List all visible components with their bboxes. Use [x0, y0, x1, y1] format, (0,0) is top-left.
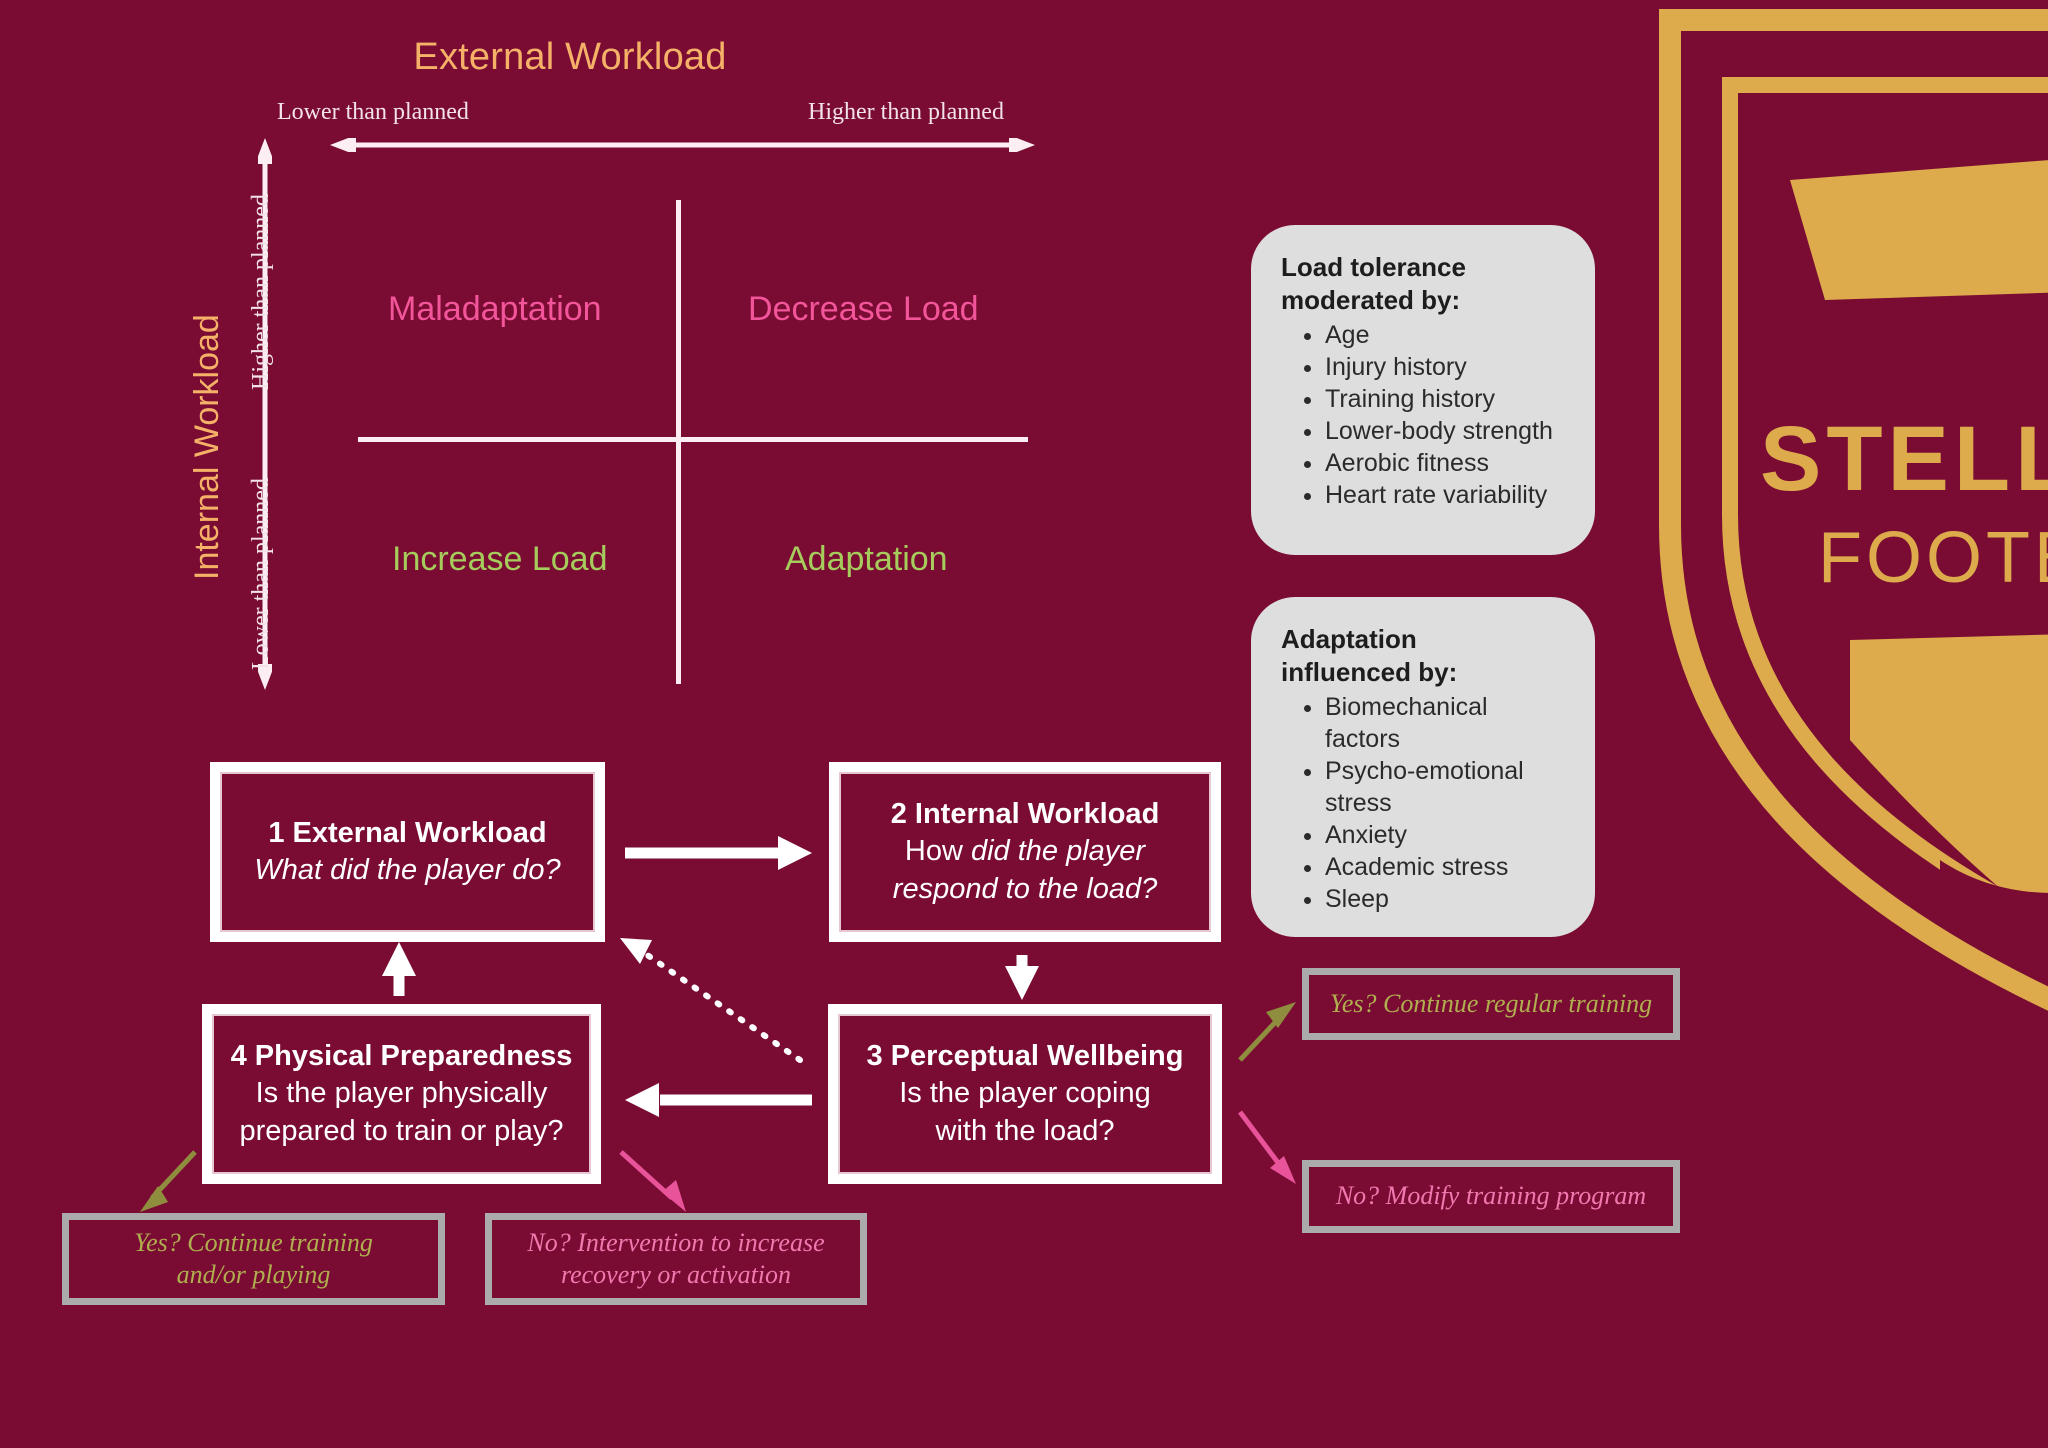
crest-swoosh [1940, 700, 2048, 959]
list-item: Aerobic fitness [1325, 447, 1565, 479]
flow-box-2-body-prefix: How [905, 835, 971, 867]
flow-box-3-heading: 3 Perceptual Wellbeing [867, 1038, 1184, 1075]
list-item: Lower-body strength [1325, 415, 1565, 447]
load-tolerance-title-line1: Load tolerance [1281, 252, 1466, 282]
list-item: Age [1325, 319, 1565, 351]
quadrant-label-decrease-load: Decrease Load [748, 290, 979, 329]
crest-text-line2: FOOTBA [1818, 518, 2048, 598]
outcome-no-intervention[interactable]: No? Intervention to increase recovery or… [485, 1213, 867, 1305]
y-axis-label-lower: Lower than planned [248, 478, 275, 670]
load-tolerance-list: Age Injury history Training history Lowe… [1281, 319, 1565, 512]
outcome-no-modify-program[interactable]: No? Modify training program [1302, 1160, 1680, 1233]
adaptation-title-line1: Adaptation [1281, 624, 1417, 654]
diagram-canvas: STELLEN FOOTBA External Workload Lower t… [0, 0, 2048, 1448]
arrow-box3-to-no-modify-program [1240, 1112, 1296, 1184]
flow-box-2-inner: 2 Internal Workload How did the playerre… [839, 772, 1211, 932]
quadrant-label-maladaptation: Maladaptation [388, 290, 602, 329]
flow-box-3-body-line1: Is the player coping [899, 1075, 1150, 1112]
outcome-yes-continue-training-text: Yes? Continue training and/or playing [134, 1227, 373, 1291]
quadrant-label-increase-load: Increase Load [392, 540, 608, 579]
flow-box-3-inner: 3 Perceptual Wellbeing Is the player cop… [838, 1014, 1212, 1174]
flow-box-1-body: What did the player do? [254, 852, 560, 889]
club-crest-logo: STELLEN FOOTBA [1640, 0, 2048, 1060]
x-axis-double-arrow [330, 138, 1035, 152]
load-tolerance-card: Load tolerance moderated by: Age Injury … [1251, 225, 1595, 555]
list-item: Sleep [1325, 883, 1565, 915]
flow-box-2-body-italic-line2: respond to the load? [893, 873, 1157, 905]
flow-box-4-physical-preparedness[interactable]: 4 Physical Preparedness Is the player ph… [202, 1004, 601, 1184]
flow-box-2-body-italic-line1: did the player [971, 835, 1145, 867]
y-axis-label-higher: Higher than planned [248, 194, 275, 390]
load-tolerance-card-title: Load tolerance moderated by: [1281, 251, 1565, 317]
quadrant-vertical-divider [676, 200, 681, 684]
outcome-yes-regular-training-text: Yes? Continue regular training [1330, 988, 1652, 1020]
arrow-feedback-dotted-to-box1 [620, 938, 800, 1060]
crest-inner-outline [1730, 85, 2048, 942]
crest-bottom-wedge [1850, 625, 2048, 960]
arrow-box4-to-yes-continue-training [140, 1152, 195, 1212]
flow-box-2-body: How did the playerrespond to the load? [893, 833, 1157, 907]
adaptation-influences-list: Biomechanical factors Psycho-emotional s… [1281, 691, 1565, 916]
arrow-box2-to-box3 [1005, 955, 1039, 1000]
flow-box-3-perceptual-wellbeing[interactable]: 3 Perceptual Wellbeing Is the player cop… [828, 1004, 1222, 1184]
crest-text-line1: STELLEN [1760, 408, 2048, 510]
outcome-line2: recovery or activation [561, 1260, 791, 1289]
list-item: Biomechanical factors [1325, 691, 1565, 755]
adaptation-title-line2: influenced by: [1281, 657, 1457, 687]
x-axis-label-higher: Higher than planned [808, 99, 1004, 126]
outcome-line2: and/or playing [177, 1260, 331, 1289]
flow-box-3-body-line2: with the load? [936, 1113, 1115, 1150]
outcome-yes-regular-training[interactable]: Yes? Continue regular training [1302, 968, 1680, 1040]
arrow-box4-to-box1 [382, 942, 416, 996]
flow-box-4-heading: 4 Physical Preparedness [231, 1038, 573, 1075]
arrow-box3-to-yes-regular-training [1240, 1002, 1296, 1060]
flow-box-2-internal-workload[interactable]: 2 Internal Workload How did the playerre… [829, 762, 1221, 942]
adaptation-card-title: Adaptation influenced by: [1281, 623, 1565, 689]
list-item: Academic stress [1325, 851, 1565, 883]
flow-box-2-heading: 2 Internal Workload [891, 796, 1160, 833]
workload-quadrant-matrix: External Workload Lower than planned Hig… [0, 0, 1100, 720]
list-item: Injury history [1325, 351, 1565, 383]
list-item: Heart rate variability [1325, 479, 1565, 511]
x-axis-label-lower: Lower than planned [277, 99, 469, 126]
list-item: Anxiety [1325, 819, 1565, 851]
arrow-box4-to-no-intervention [621, 1152, 686, 1212]
outcome-yes-continue-training[interactable]: Yes? Continue training and/or playing [62, 1213, 445, 1305]
outcome-no-modify-program-text: No? Modify training program [1336, 1180, 1646, 1212]
quadrant-label-adaptation: Adaptation [785, 540, 948, 579]
arrow-box1-to-box2 [625, 836, 812, 870]
load-tolerance-title-line2: moderated by: [1281, 285, 1460, 315]
internal-workload-axis-title: Internal Workload [188, 314, 227, 580]
list-item: Psycho-emotional stress [1325, 755, 1565, 819]
flow-box-1-inner: 1 External Workload What did the player … [220, 772, 595, 932]
outcome-line1: Yes? Continue training [134, 1228, 373, 1257]
flow-box-1-heading: 1 External Workload [268, 815, 546, 852]
crest-svg: STELLEN FOOTBA [1640, 0, 2048, 1060]
quadrant-horizontal-divider [358, 437, 1028, 442]
outcome-line1: No? Intervention to increase [527, 1228, 824, 1257]
flow-box-4-inner: 4 Physical Preparedness Is the player ph… [212, 1014, 591, 1174]
crest-top-band [1790, 130, 2048, 300]
flow-box-1-external-workload[interactable]: 1 External Workload What did the player … [210, 762, 605, 942]
list-item: Training history [1325, 383, 1565, 415]
external-workload-axis-title: External Workload [360, 36, 780, 79]
outcome-no-intervention-text: No? Intervention to increase recovery or… [527, 1227, 824, 1291]
crest-outline [1670, 20, 2048, 1018]
flow-box-4-body-line1: Is the player physically [256, 1075, 548, 1112]
arrow-box3-to-box4 [625, 1083, 812, 1117]
adaptation-influences-card: Adaptation influenced by: Biomechanical … [1251, 597, 1595, 937]
flow-box-4-body-line2: prepared to train or play? [239, 1113, 563, 1150]
